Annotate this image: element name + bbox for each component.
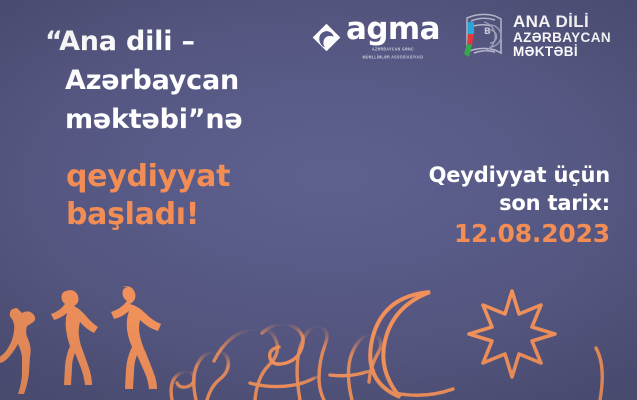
eight-pointed-star-icon [469,291,555,377]
subheadline: qeydiyyat başladı! [66,158,230,234]
swash-right [596,348,602,400]
agma-name: agma [346,14,440,45]
agma-subtitle-line2: MÜƏLLİMLƏR ASSOSİASİYASI [346,55,440,61]
agma-subtitle-line1: AZƏRBAYCAN GƏNC [346,47,440,53]
headline-line-2: Azərbaycan [45,61,335,100]
logo-bar: agma AZƏRBAYCAN GƏNC MÜƏLLİMLƏR ASSOSİAS… [312,6,633,66]
ana-dili-line3: MƏKTƏBİ [513,45,611,59]
book-flag-emblem-icon: B [454,9,506,63]
deadline-label-line-1: Qeydiyyat üçün [429,162,610,190]
deadline-date: 12.08.2023 [429,218,610,251]
subheadline-line-1: qeydiyyat [66,158,230,196]
bottom-artwork [0,265,637,400]
ana-dili-logo: B ANA DİLİ AZƏRBAYCAN MƏKTƏBİ [454,9,611,63]
ana-dili-line2: AZƏRBAYCAN [513,31,611,45]
ana-dili-wordmark: ANA DİLİ AZƏRBAYCAN MƏKTƏBİ [513,13,611,60]
poster-canvas: agma AZƏRBAYCAN GƏNC MÜƏLLİMLƏR ASSOSİAS… [0,0,637,400]
calligraphy-flourish-icon [171,324,381,400]
subheadline-line-2: başladı! [66,196,230,234]
headline-line-3: məktəbi”nə [45,100,335,139]
ana-dili-line1: ANA DİLİ [513,13,611,31]
svg-text:B: B [484,27,491,37]
headline: “Ana dili – Azərbaycan məktəbi”nə [45,22,335,139]
agma-wordmark: agma AZƏRBAYCAN GƏNC MÜƏLLİMLƏR ASSOSİAS… [346,14,440,60]
petroglyph-figures-icon [0,286,161,394]
deadline-label-line-2: son tarix: [429,190,610,218]
headline-line-1: “Ana dili – [45,22,335,61]
swash-under-moon [395,389,453,395]
deadline-block: Qeydiyyat üçün son tarix: 12.08.2023 [429,162,610,250]
